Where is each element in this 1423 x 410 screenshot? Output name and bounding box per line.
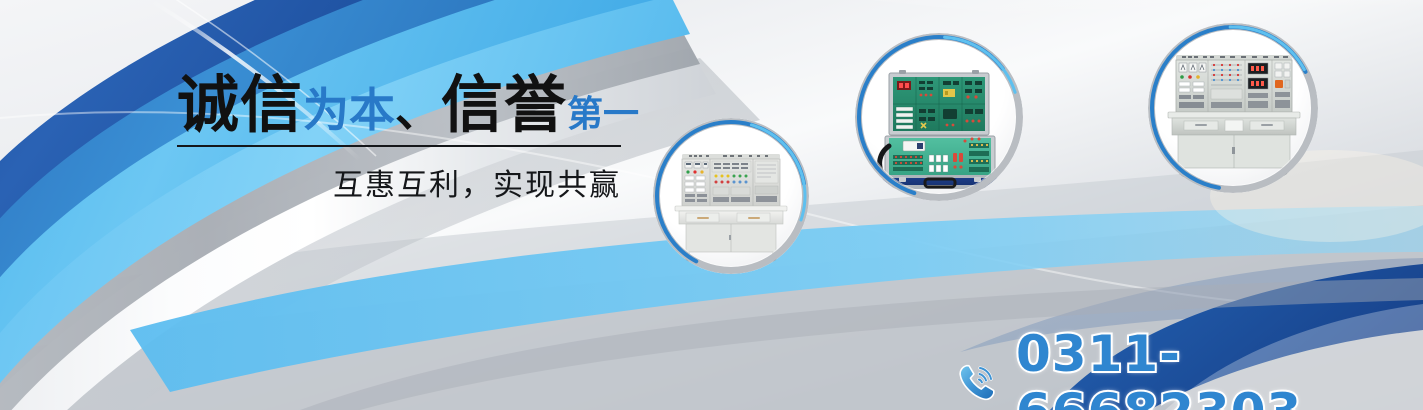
product-circle-2-frame [855, 33, 1023, 201]
phone-number: 0311-66682303 [1016, 325, 1423, 410]
headline: 诚信为本、信誉第一 [177, 74, 639, 136]
product-circle-3-frame [1148, 23, 1318, 193]
portable-training-suitcase-image [855, 33, 1023, 201]
headline-part-4: 信誉 [441, 68, 567, 141]
promo-banner: 诚信为本、信誉第一 互惠互利，实现共赢 [0, 0, 1423, 410]
headline-divider [177, 145, 621, 147]
product-circle-1[interactable] [653, 118, 809, 274]
headline-part-1: 诚信 [177, 68, 303, 141]
headline-part-3: 、 [395, 83, 441, 137]
contact-phone-block[interactable]: 0311-66682303 [952, 325, 1423, 410]
product-circle-2[interactable] [855, 33, 1023, 201]
product-circle-3[interactable] [1148, 23, 1318, 193]
electrical-control-bench-image [1148, 23, 1318, 193]
headline-part-2: 为本 [303, 83, 395, 137]
electrical-lab-workbench-image [653, 118, 809, 274]
product-circle-1-frame [653, 118, 809, 274]
subheadline: 互惠互利，实现共赢 [177, 160, 621, 204]
phone-icon [952, 358, 1002, 408]
headline-part-5: 第一 [567, 94, 639, 135]
